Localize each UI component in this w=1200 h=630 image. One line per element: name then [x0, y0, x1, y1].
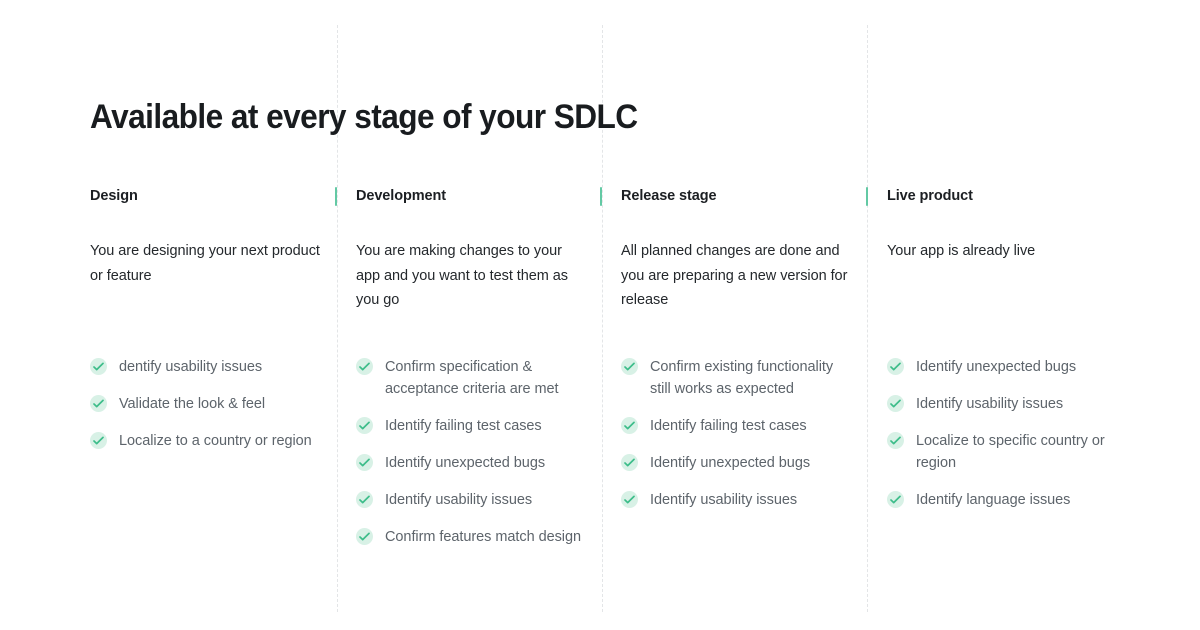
list-item: Localize to a country or region — [90, 430, 325, 452]
column-header: Live product — [887, 186, 1122, 212]
check-circle-icon — [90, 395, 107, 412]
list-item-label: Confirm specification & acceptance crite… — [385, 356, 591, 400]
list-item: Identify failing test cases — [621, 415, 856, 437]
column-header: Development — [356, 186, 591, 212]
list-item-label: Confirm existing functionality still wor… — [650, 356, 856, 400]
check-circle-icon — [356, 528, 373, 545]
list-item-label: Localize to a country or region — [119, 430, 312, 452]
list-item: Validate the look & feel — [90, 393, 325, 415]
checklist: Confirm specification & acceptance crite… — [356, 356, 591, 563]
list-item: Localize to specific country or region — [887, 430, 1122, 474]
list-item-label: dentify usability issues — [119, 356, 262, 378]
list-item: Identify usability issues — [887, 393, 1122, 415]
list-item-label: Identify usability issues — [650, 489, 797, 511]
check-circle-icon — [356, 417, 373, 434]
list-item-label: Identify unexpected bugs — [385, 452, 545, 474]
stage-column-design: Design You are designing your next produ… — [90, 186, 325, 303]
page-title: Available at every stage of your SDLC — [90, 95, 638, 139]
list-item-label: Identify failing test cases — [385, 415, 542, 437]
list-item: Identify failing test cases — [356, 415, 591, 437]
list-item: Confirm existing functionality still wor… — [621, 356, 856, 400]
list-item: Identify unexpected bugs — [887, 356, 1122, 378]
list-item: Confirm features match design — [356, 526, 591, 548]
check-circle-icon — [621, 491, 638, 508]
list-item: Identify language issues — [887, 489, 1122, 511]
accent-bar — [600, 187, 602, 206]
check-circle-icon — [356, 491, 373, 508]
checklist: dentify usability issues Validate the lo… — [90, 356, 325, 467]
check-circle-icon — [887, 358, 904, 375]
list-item: Confirm specification & acceptance crite… — [356, 356, 591, 400]
column-description: You are making changes to your app and y… — [356, 239, 588, 313]
column-description: Your app is already live — [887, 239, 1119, 264]
check-circle-icon — [356, 454, 373, 471]
column-header: Release stage — [621, 186, 856, 212]
accent-bar — [866, 187, 868, 206]
column-title: Development — [356, 188, 446, 204]
list-item-label: Localize to specific country or region — [916, 430, 1122, 474]
list-item: Identify usability issues — [621, 489, 856, 511]
column-header: Design — [90, 186, 325, 212]
check-circle-icon — [621, 358, 638, 375]
list-item: dentify usability issues — [90, 356, 325, 378]
check-circle-icon — [90, 358, 107, 375]
stage-column-development: Development You are making changes to yo… — [356, 186, 591, 327]
checklist: Confirm existing functionality still wor… — [621, 356, 856, 526]
list-item-label: Identify language issues — [916, 489, 1070, 511]
list-item-label: Confirm features match design — [385, 526, 581, 548]
list-item: Identify unexpected bugs — [356, 452, 591, 474]
list-item-label: Identify usability issues — [916, 393, 1063, 415]
checklist: Identify unexpected bugs Identify usabil… — [887, 356, 1122, 526]
column-title: Release stage — [621, 188, 716, 204]
list-item: Identify usability issues — [356, 489, 591, 511]
check-circle-icon — [887, 432, 904, 449]
check-circle-icon — [90, 432, 107, 449]
check-circle-icon — [621, 454, 638, 471]
slide-canvas: Available at every stage of your SDLC De… — [0, 0, 1200, 630]
stage-column-release-stage: Release stage All planned changes are do… — [621, 186, 856, 327]
check-circle-icon — [887, 395, 904, 412]
check-circle-icon — [356, 358, 373, 375]
column-description: You are designing your next product or f… — [90, 239, 322, 288]
column-description: All planned changes are done and you are… — [621, 239, 853, 313]
check-circle-icon — [887, 491, 904, 508]
list-item-label: Validate the look & feel — [119, 393, 265, 415]
list-item-label: Identify failing test cases — [650, 415, 807, 437]
column-title: Live product — [887, 188, 973, 204]
stage-column-live-product: Live product Your app is already live Id… — [887, 186, 1122, 278]
check-circle-icon — [621, 417, 638, 434]
accent-bar — [335, 187, 337, 206]
list-item-label: Identify unexpected bugs — [916, 356, 1076, 378]
list-item-label: Identify usability issues — [385, 489, 532, 511]
column-title: Design — [90, 188, 138, 204]
list-item-label: Identify unexpected bugs — [650, 452, 810, 474]
column-divider-3 — [867, 25, 869, 612]
list-item: Identify unexpected bugs — [621, 452, 856, 474]
